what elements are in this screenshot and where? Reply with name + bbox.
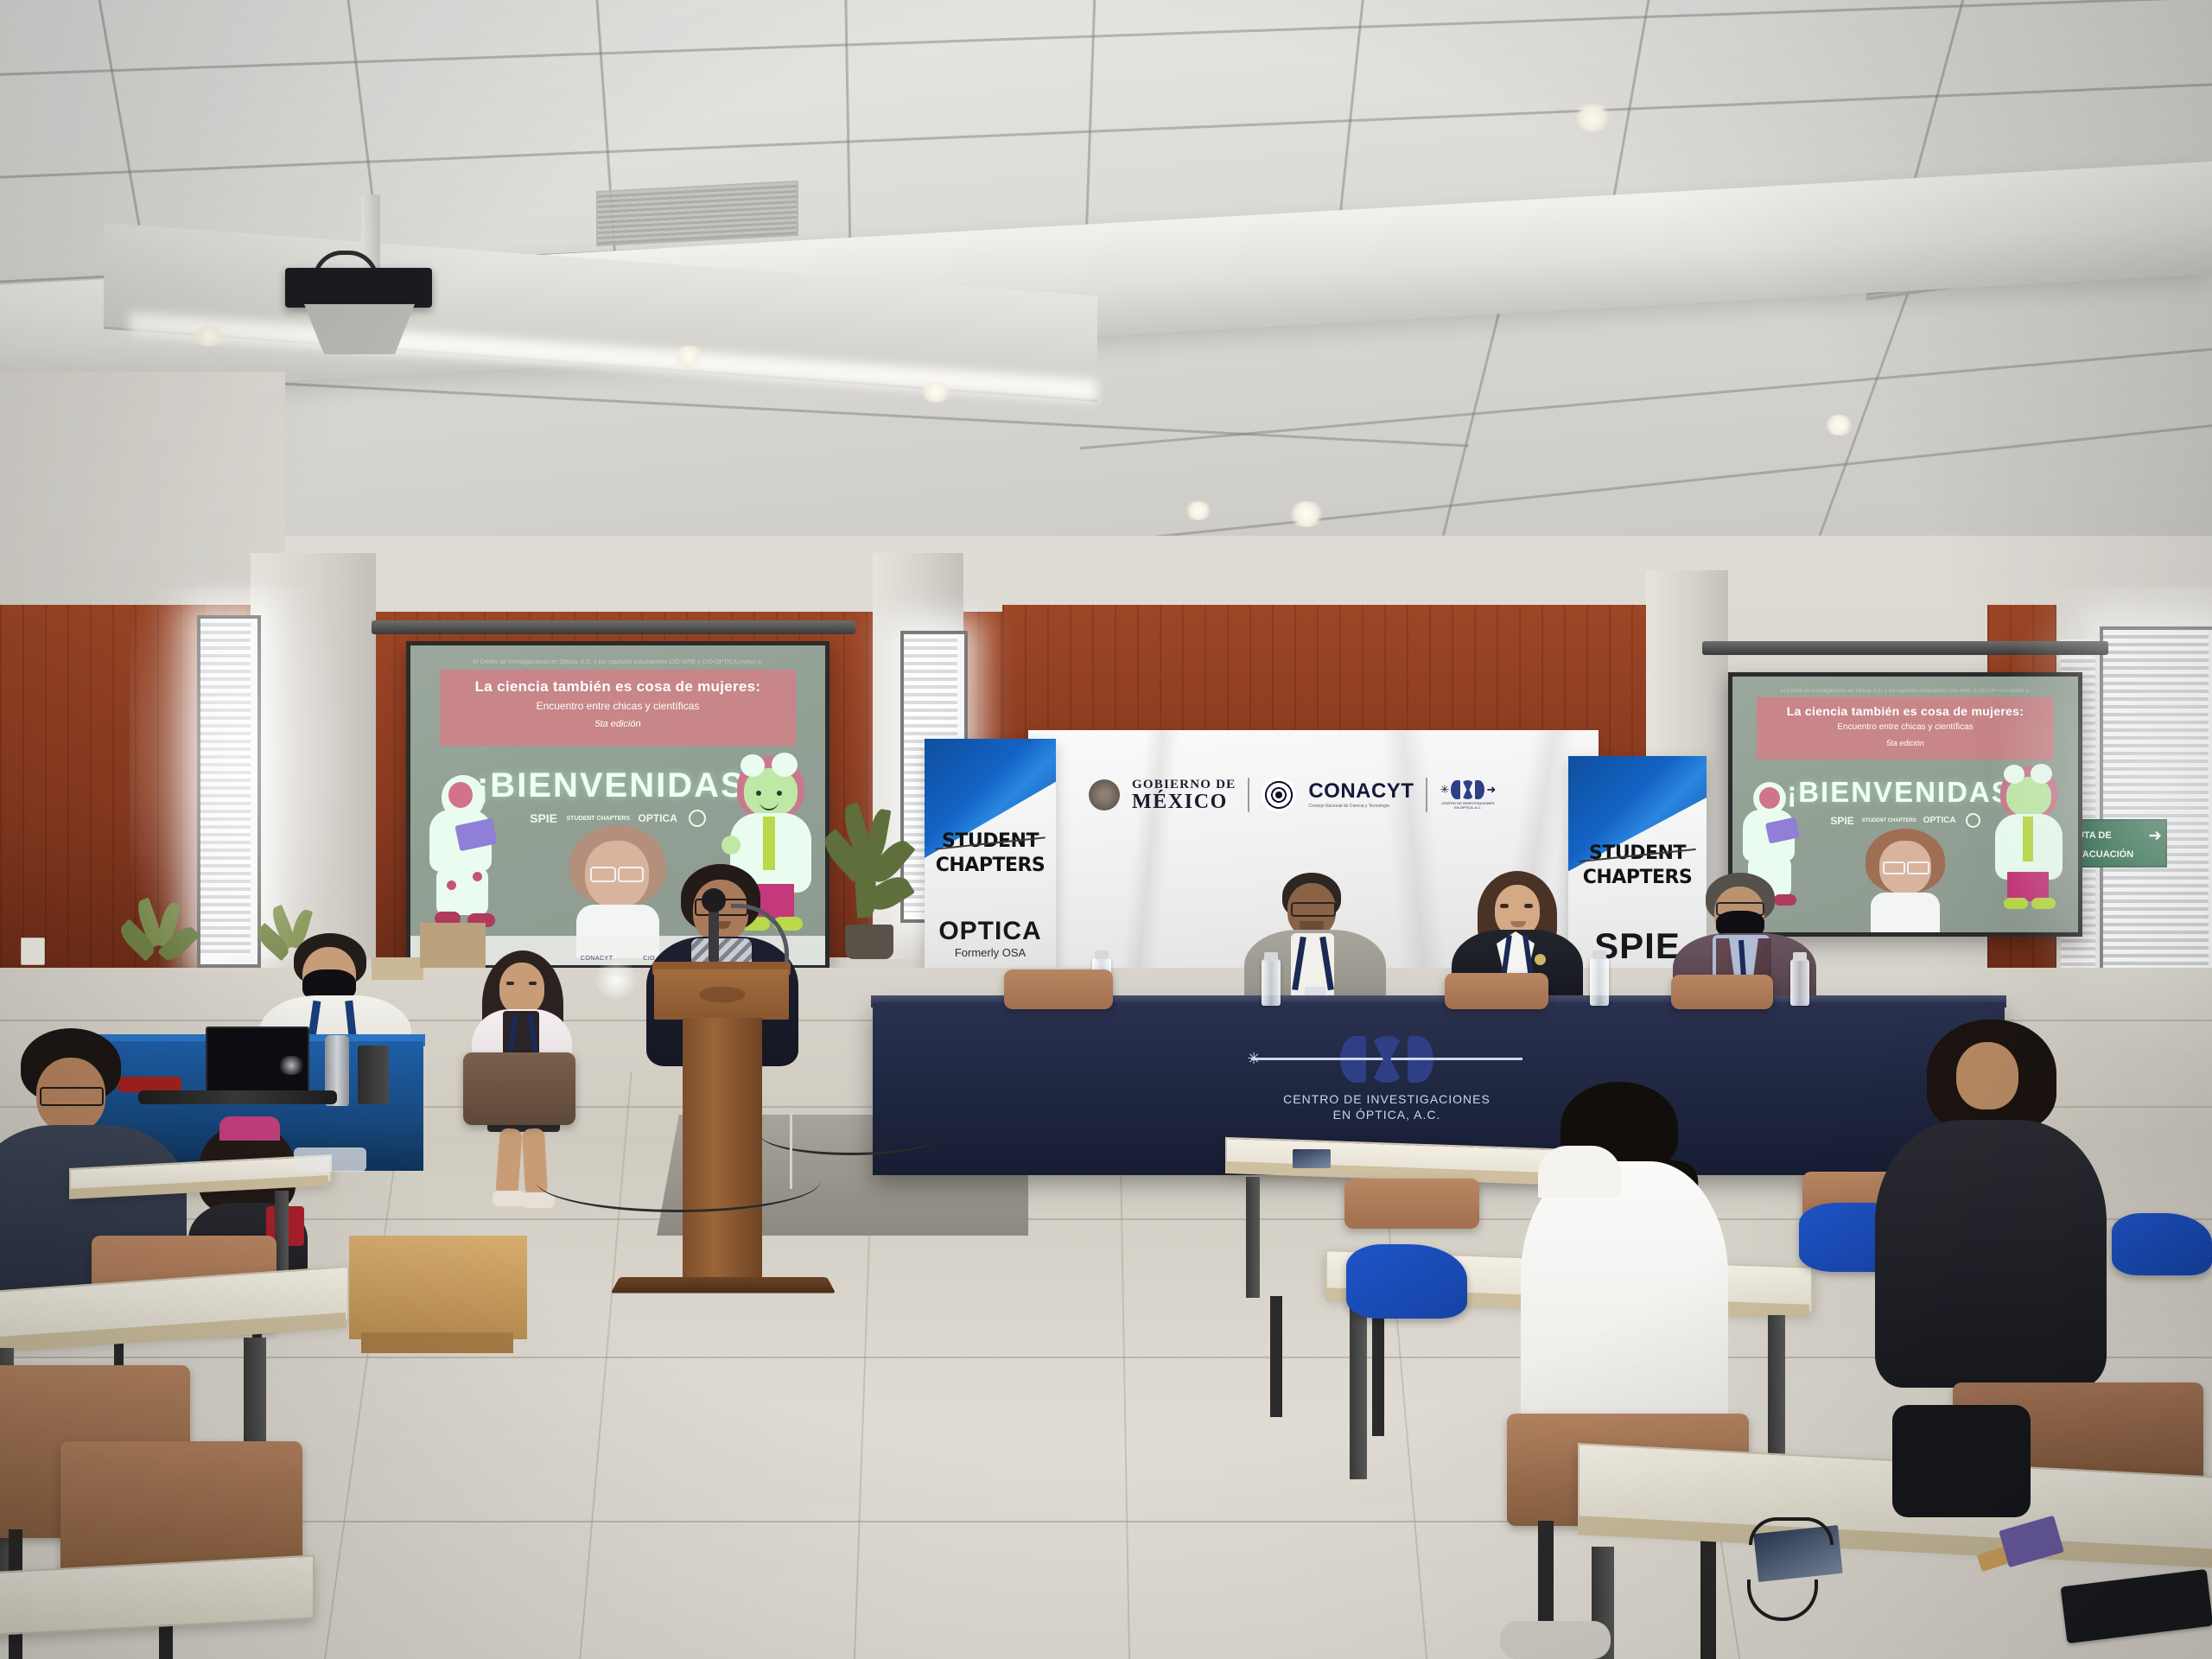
conference-room-photo: RUTA DE ➜ EVACUACIÓN El Centro de Invest… bbox=[0, 0, 2212, 1659]
vignette bbox=[0, 0, 2212, 1659]
